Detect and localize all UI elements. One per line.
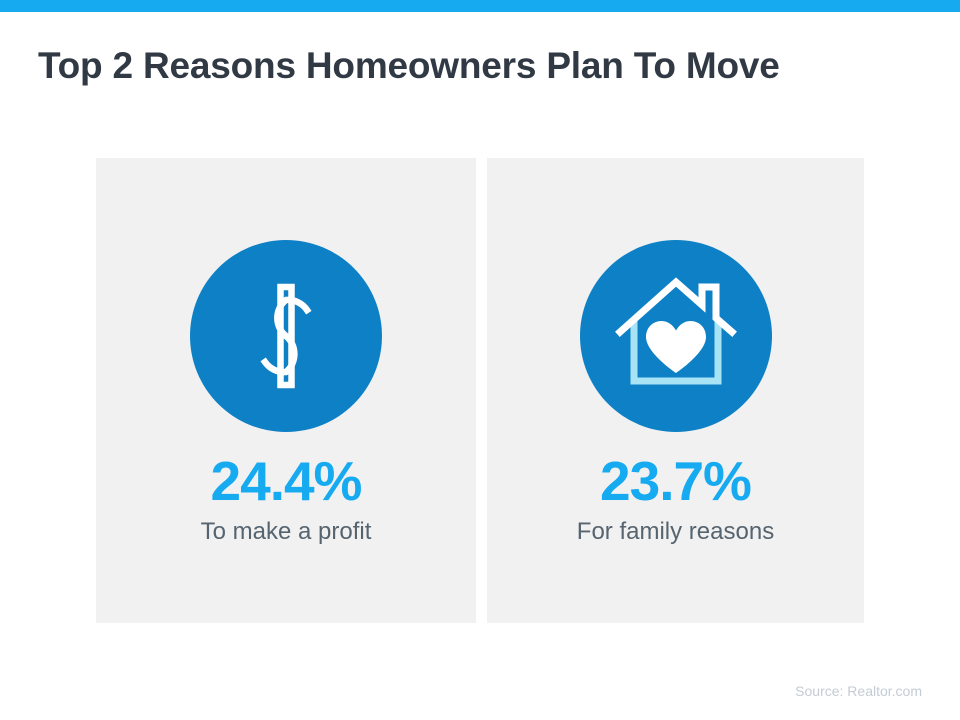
heart-shape bbox=[646, 321, 706, 373]
stat-value-profit: 24.4% bbox=[211, 452, 362, 510]
icon-circle-family bbox=[580, 240, 772, 432]
page-title: Top 2 Reasons Homeowners Plan To Move bbox=[38, 44, 780, 88]
stat-cards-row: 24.4% To make a profit 23.7% For family … bbox=[96, 158, 864, 623]
stat-value-family: 23.7% bbox=[600, 452, 751, 510]
stat-label-profit: To make a profit bbox=[201, 518, 372, 546]
stat-card-family[interactable]: 23.7% For family reasons bbox=[487, 158, 864, 623]
house-heart-icon bbox=[608, 274, 744, 398]
top-accent-bar bbox=[0, 0, 960, 12]
icon-circle-profit bbox=[190, 240, 382, 432]
stat-label-family: For family reasons bbox=[577, 518, 774, 546]
dollar-sign-icon bbox=[224, 274, 348, 398]
stat-card-profit[interactable]: 24.4% To make a profit bbox=[96, 158, 476, 623]
source-note: Source: Realtor.com bbox=[795, 683, 922, 699]
